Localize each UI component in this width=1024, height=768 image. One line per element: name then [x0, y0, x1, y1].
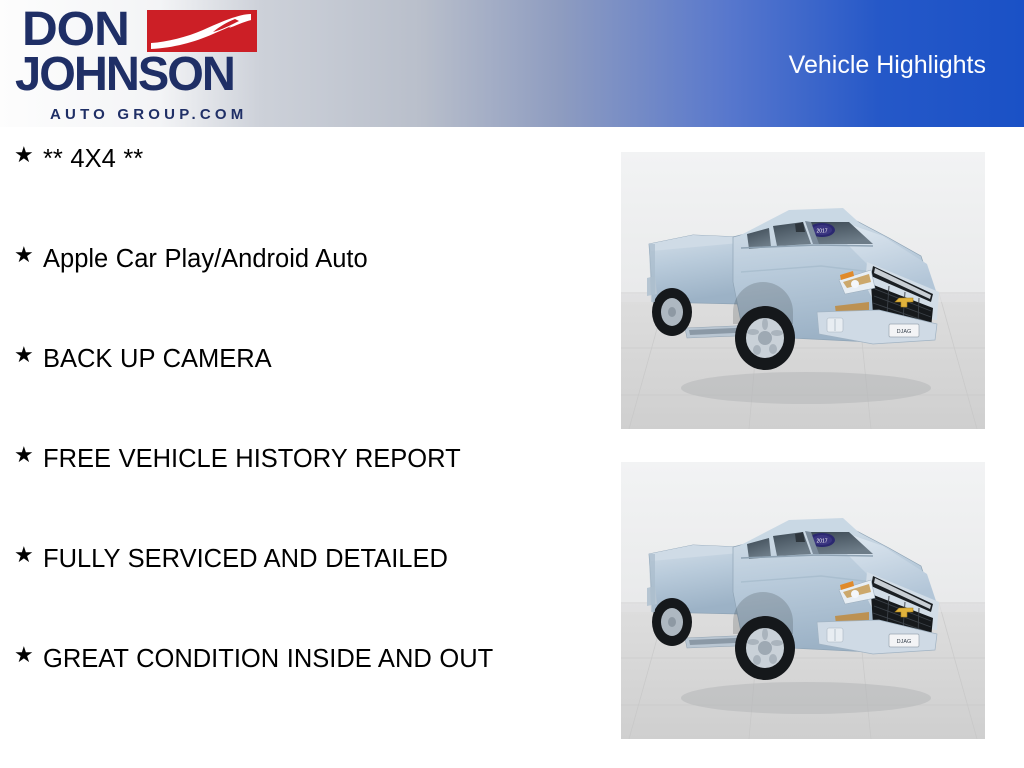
star-bullet-icon: ★	[14, 640, 43, 670]
list-item: ★ ** 4X4 **	[0, 140, 600, 240]
list-item-label: GREAT CONDITION INSIDE AND OUT	[43, 640, 543, 678]
truck-illustration: 2017 DJAG	[621, 462, 985, 739]
list-item: ★ Apple Car Play/Android Auto	[0, 240, 600, 340]
svg-text:DJAG: DJAG	[897, 329, 912, 335]
truck-illustration: 2017	[621, 152, 985, 429]
page-header: DON JOHNSON AUTO GROUP.COM Vehicle Highl…	[0, 0, 1024, 127]
page-title: Vehicle Highlights	[789, 50, 986, 80]
dealer-logo[interactable]: DON JOHNSON AUTO GROUP.COM	[12, 4, 262, 126]
vehicle-highlights-list: ★ ** 4X4 ** ★ Apple Car Play/Android Aut…	[0, 140, 600, 740]
svg-text:DJAG: DJAG	[897, 639, 912, 645]
list-item-label: BACK UP CAMERA	[43, 340, 543, 378]
logo-text-don: DON	[22, 6, 129, 54]
logo-text-auto-group: AUTO GROUP.COM	[50, 107, 247, 123]
list-item-label: FULLY SERVICED AND DETAILED	[43, 540, 543, 578]
star-bullet-icon: ★	[14, 340, 43, 370]
star-bullet-icon: ★	[14, 140, 43, 170]
vehicle-photo-front-three-quarter-1[interactable]: 2017	[621, 152, 985, 429]
star-bullet-icon: ★	[14, 540, 43, 570]
list-item-label: Apple Car Play/Android Auto	[43, 240, 543, 278]
svg-text:2017: 2017	[816, 229, 827, 235]
list-item: ★ GREAT CONDITION INSIDE AND OUT	[0, 640, 600, 740]
vehicle-photo-front-three-quarter-2[interactable]: 2017 DJAG	[621, 462, 985, 739]
swoosh-badge-icon	[147, 10, 257, 52]
list-item-label: ** 4X4 **	[43, 140, 543, 178]
star-bullet-icon: ★	[14, 240, 43, 270]
list-item-label: FREE VEHICLE HISTORY REPORT	[43, 440, 543, 478]
list-item: ★ FREE VEHICLE HISTORY REPORT	[0, 440, 600, 540]
list-item: ★ FULLY SERVICED AND DETAILED	[0, 540, 600, 640]
star-bullet-icon: ★	[14, 440, 43, 470]
list-item: ★ BACK UP CAMERA	[0, 340, 600, 440]
logo-text-johnson: JOHNSON	[15, 51, 234, 99]
svg-text:2017: 2017	[816, 539, 827, 545]
